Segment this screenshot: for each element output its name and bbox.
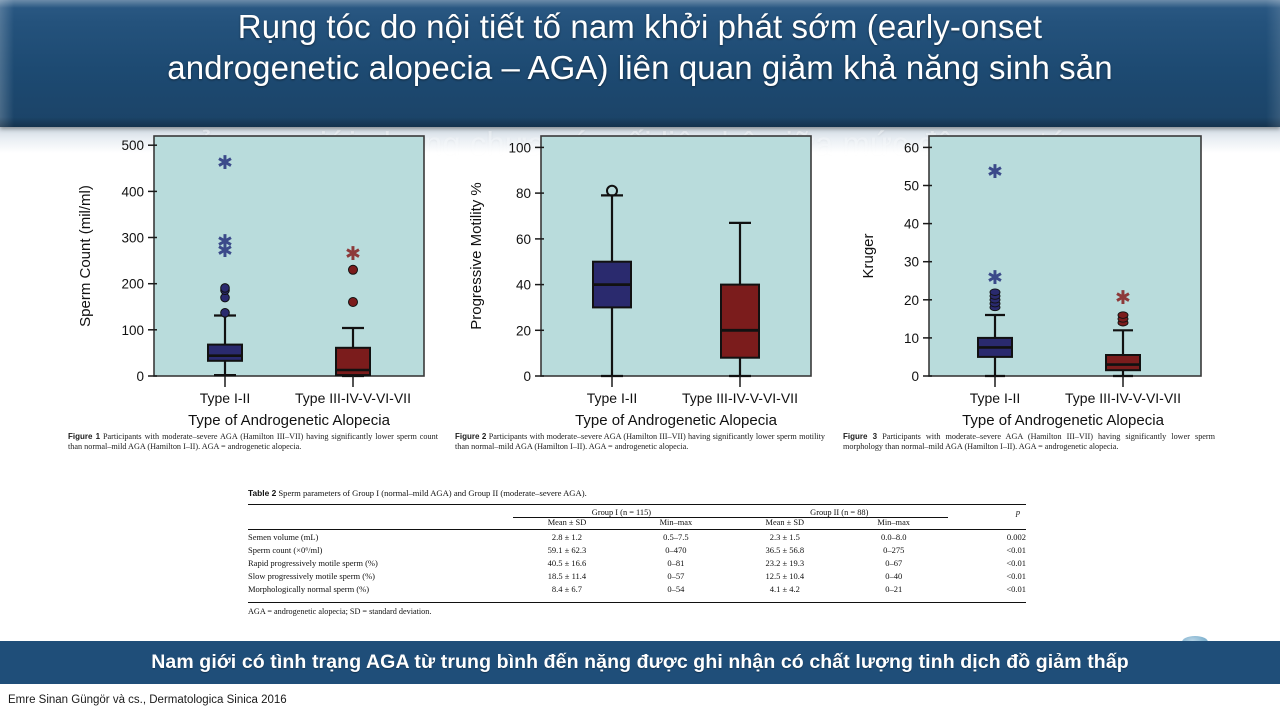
row-1-p: <0.01 — [948, 543, 1026, 556]
svg-text:✱: ✱ — [217, 232, 233, 253]
table-row: Slow progressively motile sperm (%) 18.5… — [248, 570, 1026, 583]
table-sub-header-row: Mean ± SD Min–max Mean ± SD Min–max — [248, 518, 1026, 528]
svg-text:0: 0 — [911, 369, 919, 384]
group-header-blank — [248, 508, 513, 518]
sub-header-2: Min–max — [621, 518, 730, 528]
row-4-g1-range: 0–54 — [621, 583, 730, 596]
row-1-g1-mean: 59.1 ± 62.3 — [513, 543, 622, 556]
row-3-p: <0.01 — [948, 570, 1026, 583]
svg-text:Type III-IV-V-VI-VII: Type III-IV-V-VI-VII — [295, 390, 411, 406]
svg-text:100: 100 — [508, 140, 531, 155]
svg-text:300: 300 — [121, 231, 144, 246]
svg-text:40: 40 — [904, 217, 919, 232]
svg-text:Type I-II: Type I-II — [587, 390, 638, 406]
svg-text:40: 40 — [516, 278, 531, 293]
svg-text:Type I-II: Type I-II — [970, 390, 1021, 406]
row-1-g2-mean: 36.5 ± 56.8 — [730, 543, 839, 556]
svg-text:Type of Androgenetic Alopecia: Type of Androgenetic Alopecia — [188, 412, 390, 428]
svg-text:200: 200 — [121, 277, 144, 292]
figure-3-caption: Figure 3 Participants with moderate–seve… — [843, 432, 1215, 452]
svg-text:20: 20 — [904, 293, 919, 308]
figure-3-chart: 0 10 20 30 40 50 60 Kruger — [843, 128, 1215, 428]
row-3-g1-mean: 18.5 ± 11.4 — [513, 570, 622, 583]
row-3-g1-range: 0–57 — [621, 570, 730, 583]
table-group-header-row: Group I (n = 115) Group II (n = 88) p — [248, 508, 1026, 518]
svg-text:20: 20 — [516, 323, 531, 338]
figure-2-caption: Figure 2 Participants with moderate–seve… — [455, 432, 825, 452]
row-3-g2-mean: 12.5 ± 10.4 — [730, 570, 839, 583]
row-0-g1-range: 0.5–7.5 — [621, 530, 730, 544]
figure-1-block: 0 100 200 300 400 500 Sperm Count (mil/m… — [68, 128, 438, 452]
row-1-g2-range: 0–275 — [839, 543, 948, 556]
table-title-text: Sperm parameters of Group I (normal–mild… — [278, 488, 586, 498]
row-2-g2-mean: 23.2 ± 19.3 — [730, 556, 839, 569]
svg-text:0: 0 — [523, 369, 531, 384]
svg-text:400: 400 — [121, 184, 144, 199]
row-0-g2-range: 0.0–8.0 — [839, 530, 948, 544]
svg-text:Type of Androgenetic Alopecia: Type of Androgenetic Alopecia — [962, 412, 1164, 428]
row-4-g1-mean: 8.4 ± 6.7 — [513, 583, 622, 596]
table-bottom-rule — [248, 596, 1026, 603]
row-0-p: 0.002 — [948, 530, 1026, 544]
svg-text:60: 60 — [904, 140, 919, 155]
svg-text:✱: ✱ — [217, 153, 233, 174]
table-2-block: Table 2 Sperm parameters of Group I (nor… — [248, 487, 1026, 616]
table-row: Sperm count (×0⁶/ml) 59.1 ± 62.3 0–470 3… — [248, 543, 1026, 556]
row-4-p: <0.01 — [948, 583, 1026, 596]
svg-text:Type III-IV-V-VI-VII: Type III-IV-V-VI-VII — [682, 390, 798, 406]
table-label: Table 2 — [248, 488, 276, 498]
svg-text:Type of Androgenetic Alopecia: Type of Androgenetic Alopecia — [575, 412, 777, 428]
row-2-g1-range: 0–81 — [621, 556, 730, 569]
svg-text:Sperm Count (mil/ml): Sperm Count (mil/ml) — [77, 185, 94, 327]
svg-text:Kruger: Kruger — [860, 233, 877, 278]
slide-title-banner: Rụng tóc do nội tiết tố nam khởi phát sớ… — [0, 0, 1280, 127]
svg-text:Type III-IV-V-VI-VII: Type III-IV-V-VI-VII — [1065, 390, 1181, 406]
table-footnote: AGA = androgenetic alopecia; SD = standa… — [248, 607, 1026, 616]
figure-2-block: 0 20 40 60 80 100 Progressive Motility % — [455, 128, 825, 452]
row-3-parameter: Slow progressively motile sperm (%) — [248, 570, 513, 583]
figure-1-caption-text: Participants with moderate–severe AGA (H… — [68, 432, 438, 451]
row-3-g2-range: 0–40 — [839, 570, 948, 583]
table-row: Semen volume (mL) 2.8 ± 1.2 0.5–7.5 2.3 … — [248, 530, 1026, 544]
figure-2-caption-text: Participants with moderate–severe AGA (H… — [455, 432, 825, 451]
figure-3-caption-text: Participants with moderate–severe AGA (H… — [843, 432, 1215, 451]
figure-2-chart: 0 20 40 60 80 100 Progressive Motility % — [455, 128, 825, 428]
figure-3-caption-label: Figure 3 — [843, 432, 877, 441]
group-header-1: Group I (n = 115) — [513, 508, 731, 518]
row-0-g2-mean: 2.3 ± 1.5 — [730, 530, 839, 544]
row-2-g2-range: 0–67 — [839, 556, 948, 569]
svg-text:✱: ✱ — [987, 162, 1003, 183]
row-2-g1-mean: 40.5 ± 16.6 — [513, 556, 622, 569]
svg-text:✱: ✱ — [345, 244, 361, 265]
group-header-p: p — [948, 508, 1026, 518]
table-row: Rapid progressively motile sperm (%) 40.… — [248, 556, 1026, 569]
svg-text:0: 0 — [136, 369, 144, 384]
row-0-parameter: Semen volume (mL) — [248, 530, 513, 544]
svg-text:✱: ✱ — [1115, 288, 1131, 309]
svg-text:500: 500 — [121, 138, 144, 153]
table-title: Table 2 Sperm parameters of Group I (nor… — [248, 487, 1026, 499]
row-0-g1-mean: 2.8 ± 1.2 — [513, 530, 622, 544]
row-1-g1-range: 0–470 — [621, 543, 730, 556]
figure-3-block: 0 10 20 30 40 50 60 Kruger — [843, 128, 1215, 452]
svg-text:60: 60 — [516, 232, 531, 247]
sub-header-1: Mean ± SD — [513, 518, 622, 528]
svg-text:10: 10 — [904, 331, 919, 346]
svg-text:100: 100 — [121, 323, 144, 338]
slide-title: Rụng tóc do nội tiết tố nam khởi phát sớ… — [0, 6, 1280, 88]
svg-text:50: 50 — [904, 179, 919, 194]
table-body: Semen volume (mL) 2.8 ± 1.2 0.5–7.5 2.3 … — [248, 530, 1026, 603]
row-2-p: <0.01 — [948, 556, 1026, 569]
figure-1-caption-label: Figure 1 — [68, 432, 100, 441]
svg-text:Type I-II: Type I-II — [200, 390, 251, 406]
row-4-parameter: Morphologically normal sperm (%) — [248, 583, 513, 596]
figure-1-chart: 0 100 200 300 400 500 Sperm Count (mil/m… — [68, 128, 438, 428]
bottom-banner: Nam giới có tình trạng AGA từ trung bình… — [0, 641, 1280, 684]
sub-header-0 — [248, 518, 513, 528]
bottom-message: Nam giới có tình trạng AGA từ trung bình… — [0, 641, 1280, 684]
sub-header-4: Min–max — [839, 518, 948, 528]
row-1-parameter: Sperm count (×0⁶/ml) — [248, 543, 513, 556]
sub-header-5 — [948, 518, 1026, 528]
row-4-g2-range: 0–21 — [839, 583, 948, 596]
figures-row: 0 100 200 300 400 500 Sperm Count (mil/m… — [0, 128, 1280, 478]
banner-bottom-bevel — [0, 117, 1280, 127]
citation-text: Emre Sinan Güngör và cs., Dermatologica … — [8, 694, 287, 706]
group-header-2: Group II (n = 88) — [730, 508, 948, 518]
figure-1-caption: Figure 1 Participants with moderate–seve… — [68, 432, 438, 452]
svg-text:✱: ✱ — [987, 268, 1003, 289]
row-4-g2-mean: 4.1 ± 4.2 — [730, 583, 839, 596]
sperm-parameters-table: Group I (n = 115) Group II (n = 88) p Me… — [248, 504, 1026, 603]
sub-header-3: Mean ± SD — [730, 518, 839, 528]
figure-2-caption-label: Figure 2 — [455, 432, 486, 441]
svg-text:80: 80 — [516, 186, 531, 201]
svg-text:Progressive Motility %: Progressive Motility % — [468, 182, 485, 330]
svg-text:30: 30 — [904, 255, 919, 270]
table-row: Morphologically normal sperm (%) 8.4 ± 6… — [248, 583, 1026, 596]
row-2-parameter: Rapid progressively motile sperm (%) — [248, 556, 513, 569]
